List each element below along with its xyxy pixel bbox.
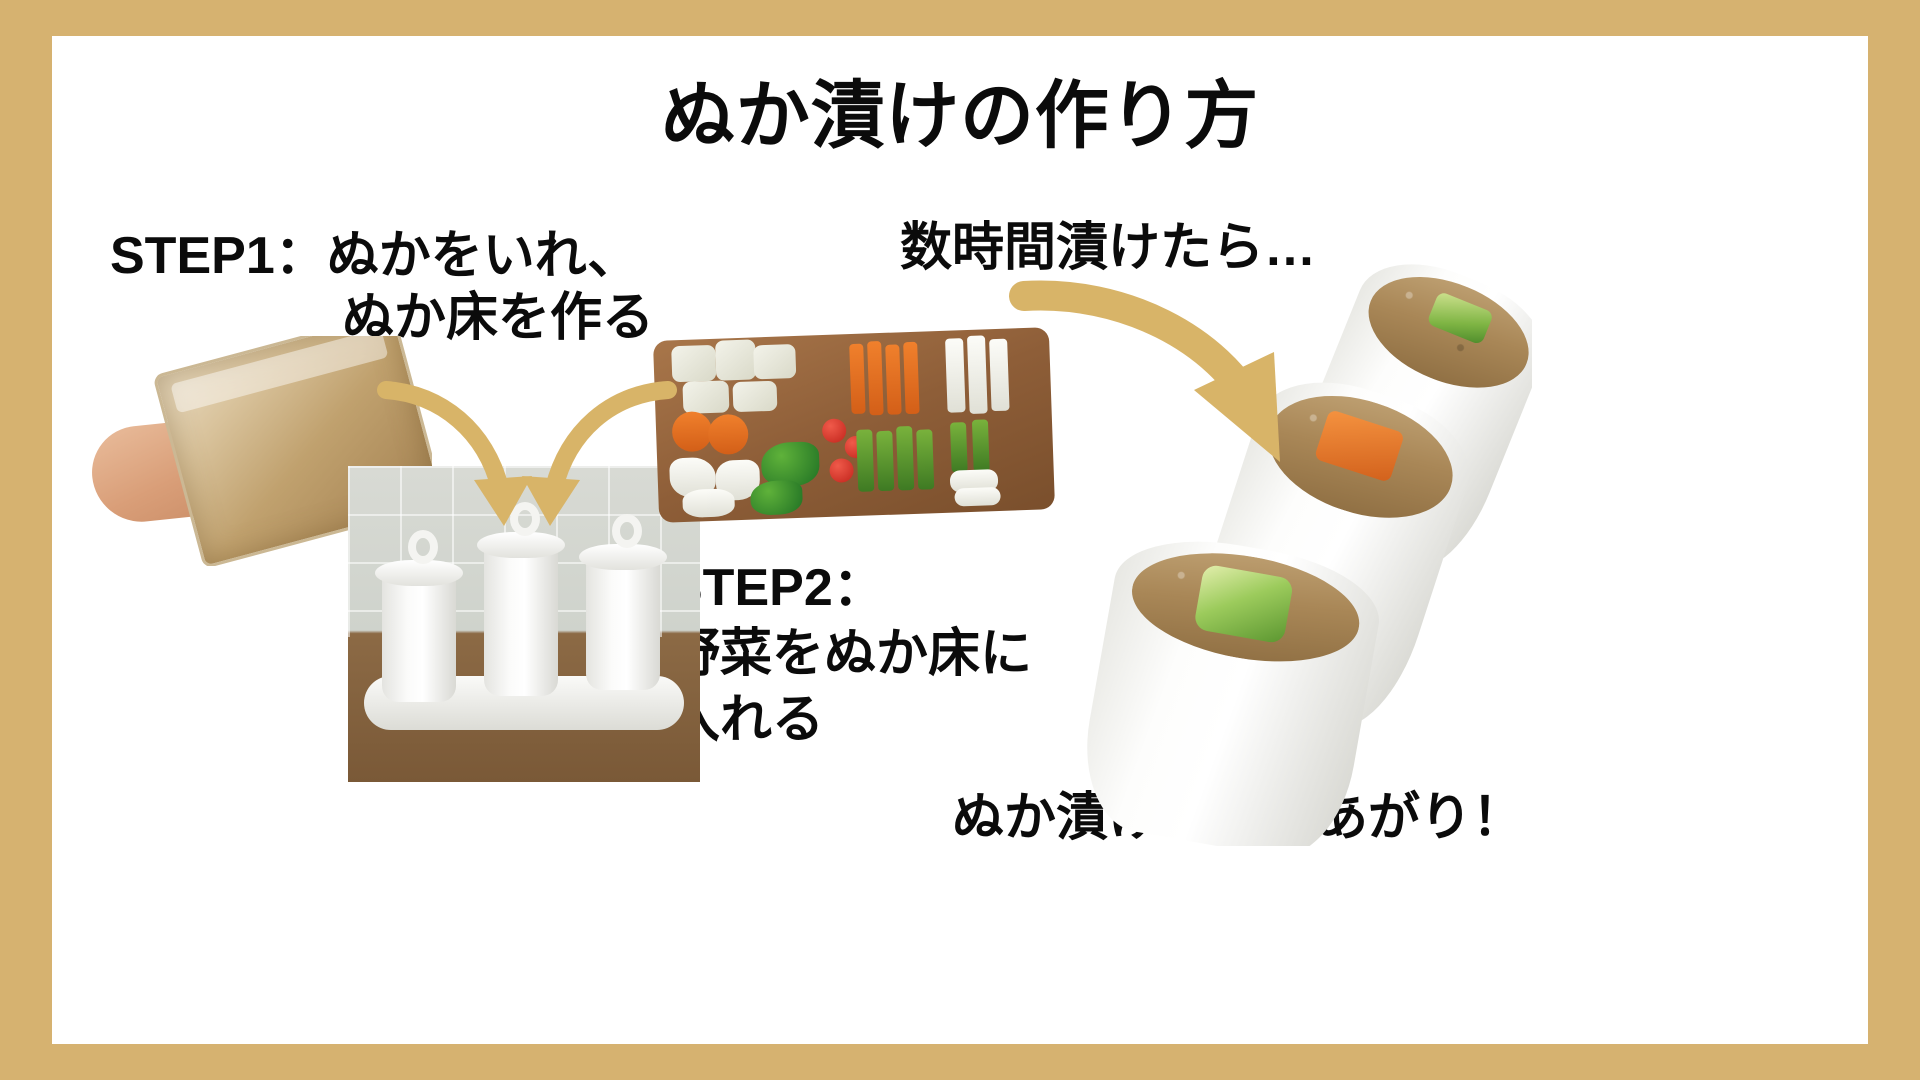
- page-title: ぬか漬けの作り方: [52, 72, 1868, 159]
- carrot-slice: [671, 411, 712, 452]
- carrot-stick: [885, 344, 901, 414]
- step1-label: STEP1：ぬかをいれ、: [110, 226, 639, 287]
- cherry-tomato: [829, 458, 854, 483]
- cabbage-piece: [753, 344, 796, 379]
- cabbage-piece: [682, 380, 729, 414]
- pickle-cup-center: [484, 546, 558, 696]
- cucumber-stick: [950, 422, 968, 473]
- carrot-stick: [849, 344, 865, 414]
- curved-arrow-down-right-icon: [482, 384, 672, 554]
- step2-line2: 野菜をぬか床に: [668, 624, 1032, 685]
- cherry-tomato: [822, 418, 847, 443]
- pickle-cup-right: [586, 558, 660, 690]
- cucumber-stick: [972, 419, 990, 472]
- cabbage-piece: [671, 345, 716, 383]
- daikon-stick: [967, 335, 988, 414]
- result-cup-bottom: [1072, 525, 1388, 846]
- carrot-stick: [903, 342, 920, 414]
- cucumber-stick: [876, 431, 894, 492]
- poster-frame: ぬか漬けの作り方 STEP1：ぬかをいれ、 ぬか床を作る 数時間漬けたら… ST…: [0, 0, 1920, 1080]
- carrot-slice: [708, 414, 749, 455]
- pickle-cup-left: [382, 574, 456, 702]
- daikon-stick: [989, 339, 1010, 412]
- carrot-stick: [867, 341, 884, 415]
- cabbage-piece: [732, 381, 777, 413]
- cutting-board-vegetables-photo: [653, 327, 1055, 523]
- cucumber-stick: [856, 429, 874, 492]
- daikon-stick: [945, 338, 966, 413]
- cabbage-piece: [715, 339, 756, 380]
- daikon-piece: [682, 488, 735, 518]
- step2-label: STEP2：: [668, 558, 885, 619]
- large-curved-arrow-right-icon: [1012, 286, 1312, 516]
- cucumber-stick: [896, 426, 914, 491]
- daikon-piece: [954, 487, 1001, 507]
- cucumber-stick: [916, 429, 934, 490]
- cup-lid: [375, 560, 463, 586]
- poster-canvas: ぬか漬けの作り方 STEP1：ぬかをいれ、 ぬか床を作る 数時間漬けたら… ST…: [52, 36, 1868, 1044]
- green-pepper: [750, 480, 803, 516]
